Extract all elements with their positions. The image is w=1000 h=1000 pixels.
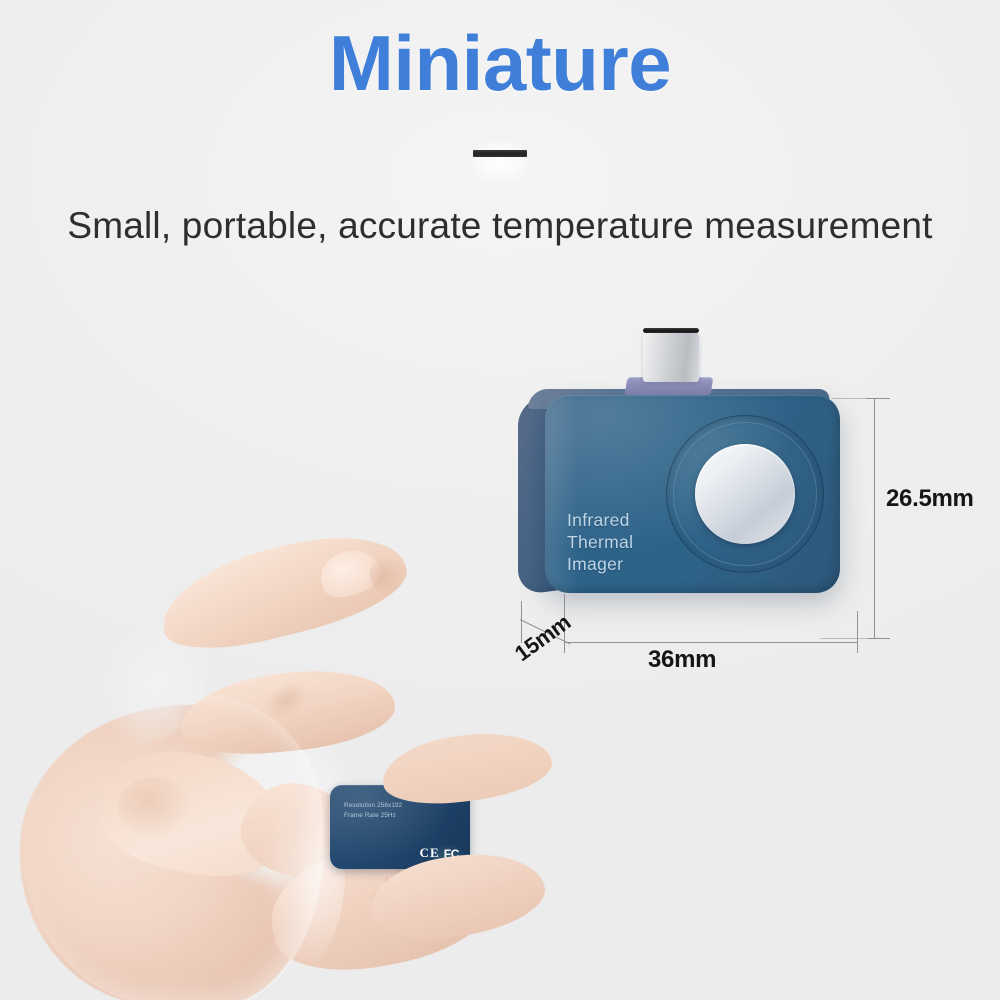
dimension-ext-height-bottom: [820, 638, 868, 639]
title-divider: [0, 140, 1000, 195]
dimension-ext-height-top: [832, 398, 866, 399]
product-marketing-page: Miniature Small, portable, accurate temp…: [0, 0, 1000, 1000]
brand-line-infrared: Infrared: [567, 509, 633, 531]
dimension-tick-width-right: [857, 611, 858, 653]
divider-glow: [468, 140, 532, 188]
page-title: Miniature: [0, 24, 1000, 102]
brand-line-imager: Imager: [567, 553, 633, 575]
spec-resolution: Resolution 256x192: [344, 801, 402, 811]
spec-frame-rate: Frame Rate 25Hz: [344, 811, 402, 821]
dimension-line-height: [874, 398, 875, 638]
usb-c-slot: [643, 328, 699, 333]
dimension-label-height: 26.5mm: [886, 485, 974, 513]
lens-outer-ring: [666, 415, 824, 573]
thermal-lens: [695, 444, 795, 544]
usb-c-connector: [643, 330, 699, 382]
page-subtitle: Small, portable, accurate temperature me…: [0, 205, 1000, 247]
dimension-label-width: 36mm: [648, 646, 716, 674]
palm-edge-highlight: [195, 760, 345, 990]
thumb-knuckle-shadow: [118, 777, 190, 837]
brand-line-thermal: Thermal: [567, 531, 633, 553]
divider-bar: [473, 150, 527, 157]
index-finger: [151, 518, 415, 664]
device-brand-text: Infrared Thermal Imager: [567, 509, 633, 575]
device-front-face: Infrared Thermal Imager: [545, 395, 840, 593]
mini-device-specs: Resolution 256x192 Frame Rate 25Hz: [344, 801, 402, 821]
dimension-line-width: [564, 642, 858, 643]
